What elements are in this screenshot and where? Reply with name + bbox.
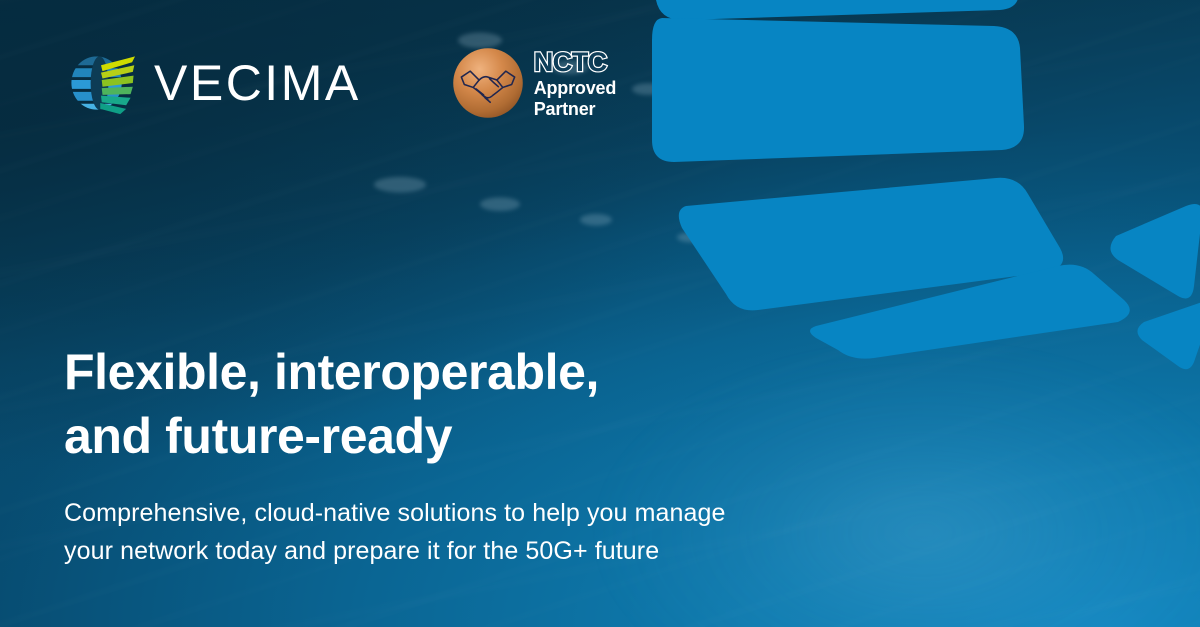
subheadline-line-2: your network today and prepare it for th… bbox=[64, 533, 844, 571]
headline-line-1: Flexible, interoperable, bbox=[64, 340, 844, 404]
copy-block: Flexible, interoperable, and future-read… bbox=[64, 340, 844, 570]
subheadline-line-1: Comprehensive, cloud-native solutions to… bbox=[64, 495, 844, 533]
vecima-wordmark: VECIMA bbox=[154, 58, 361, 108]
handshake-icon bbox=[451, 46, 525, 120]
headline: Flexible, interoperable, and future-read… bbox=[64, 340, 844, 468]
logo-lockup: VECIMA bbox=[64, 46, 616, 120]
nctc-line-partner: Partner bbox=[534, 100, 616, 118]
nctc-text-block: NCTC Approved Partner bbox=[534, 49, 616, 118]
nctc-title: NCTC bbox=[534, 49, 616, 76]
background-vecima-mark-graphic bbox=[646, 0, 1200, 396]
vecima-logo-mark bbox=[64, 46, 138, 120]
nctc-line-approved: Approved bbox=[534, 79, 616, 97]
marketing-banner: VECIMA bbox=[0, 0, 1200, 627]
vecima-logo[interactable]: VECIMA bbox=[64, 46, 361, 120]
subheadline: Comprehensive, cloud-native solutions to… bbox=[64, 495, 844, 570]
headline-line-2: and future-ready bbox=[64, 404, 844, 468]
nctc-approved-partner-badge[interactable]: NCTC Approved Partner bbox=[451, 46, 616, 120]
